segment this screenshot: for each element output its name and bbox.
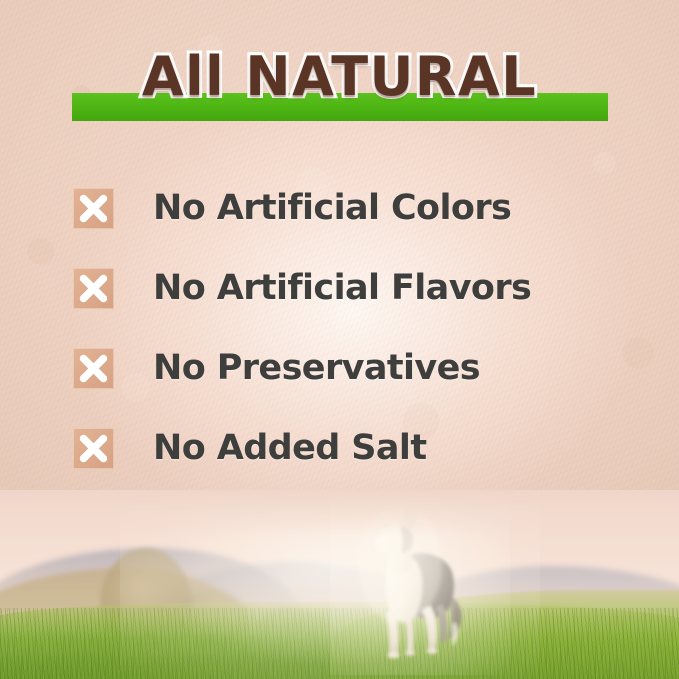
claim-label: No Added Salt	[153, 428, 426, 468]
x-mark-icon	[73, 348, 114, 389]
header-banner: All NATURAL	[0, 46, 679, 130]
product-feature-panel: All NATURAL No Artificial Colors	[0, 0, 679, 679]
grass-texture	[0, 608, 679, 679]
x-mark-icon	[73, 188, 114, 229]
claim-label: No Preservatives	[153, 348, 480, 388]
claim-label: No Artificial Flavors	[153, 268, 531, 308]
claim-row: No Artificial Flavors	[0, 248, 679, 328]
border-collie-dog	[356, 504, 476, 666]
claim-row: No Added Salt	[0, 408, 679, 488]
x-mark-icon	[73, 268, 114, 309]
hero-photograph	[0, 490, 679, 679]
claims-list: No Artificial Colors No Artificial Flavo…	[0, 168, 679, 488]
claim-row: No Artificial Colors	[0, 168, 679, 248]
x-mark-icon	[73, 428, 114, 469]
claim-label: No Artificial Colors	[153, 188, 511, 228]
page-title: All NATURAL	[0, 46, 679, 108]
claim-row: No Preservatives	[0, 328, 679, 408]
